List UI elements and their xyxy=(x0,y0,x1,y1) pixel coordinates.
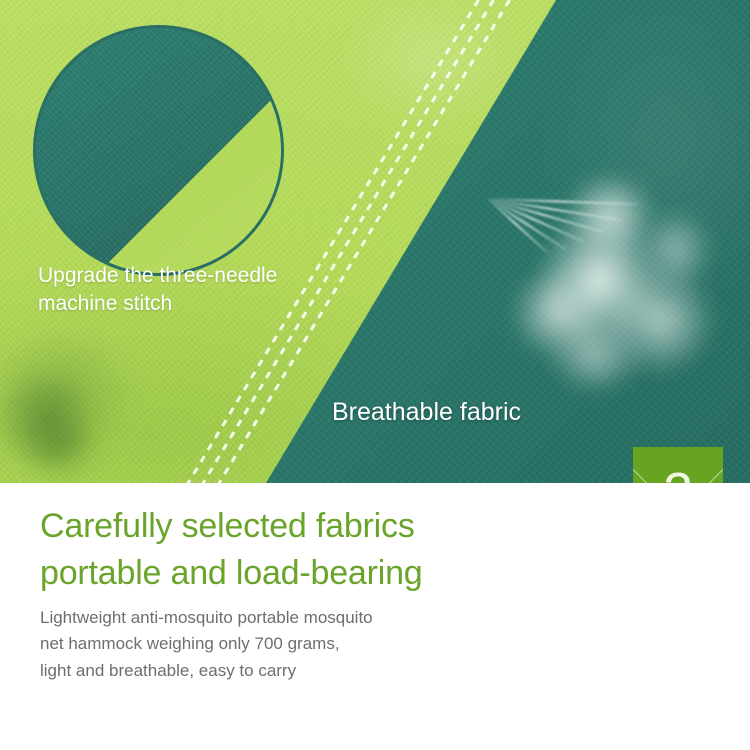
product-photo: Upgrade the three-needle machine stitch … xyxy=(0,0,750,483)
stitch-caption: Upgrade the three-needle machine stitch xyxy=(38,262,338,319)
headline-line-1: Carefully selected fabrics xyxy=(40,503,600,550)
headline-line-2: portable and load-bearing xyxy=(40,550,600,597)
stitch-detail-circle-inset xyxy=(33,25,284,276)
fabric-fold-shadow xyxy=(0,390,120,483)
body-line-2: net hammock weighing only 700 grams, xyxy=(40,631,600,657)
body-line-1: Lightweight anti-mosquito portable mosqu… xyxy=(40,605,600,631)
feature-body-copy: Lightweight anti-mosquito portable mosqu… xyxy=(40,605,600,684)
body-line-3: light and breathable, easy to carry xyxy=(40,658,600,684)
stitch-caption-line-2: machine stitch xyxy=(38,290,338,318)
description-section: Carefully selected fabrics portable and … xyxy=(0,483,750,750)
stitch-caption-line-1: Upgrade the three-needle xyxy=(38,262,338,290)
breathable-fabric-caption: Breathable fabric xyxy=(332,398,521,427)
feature-headline: Carefully selected fabrics portable and … xyxy=(40,503,600,597)
product-feature-slide: Upgrade the three-needle machine stitch … xyxy=(0,0,750,750)
